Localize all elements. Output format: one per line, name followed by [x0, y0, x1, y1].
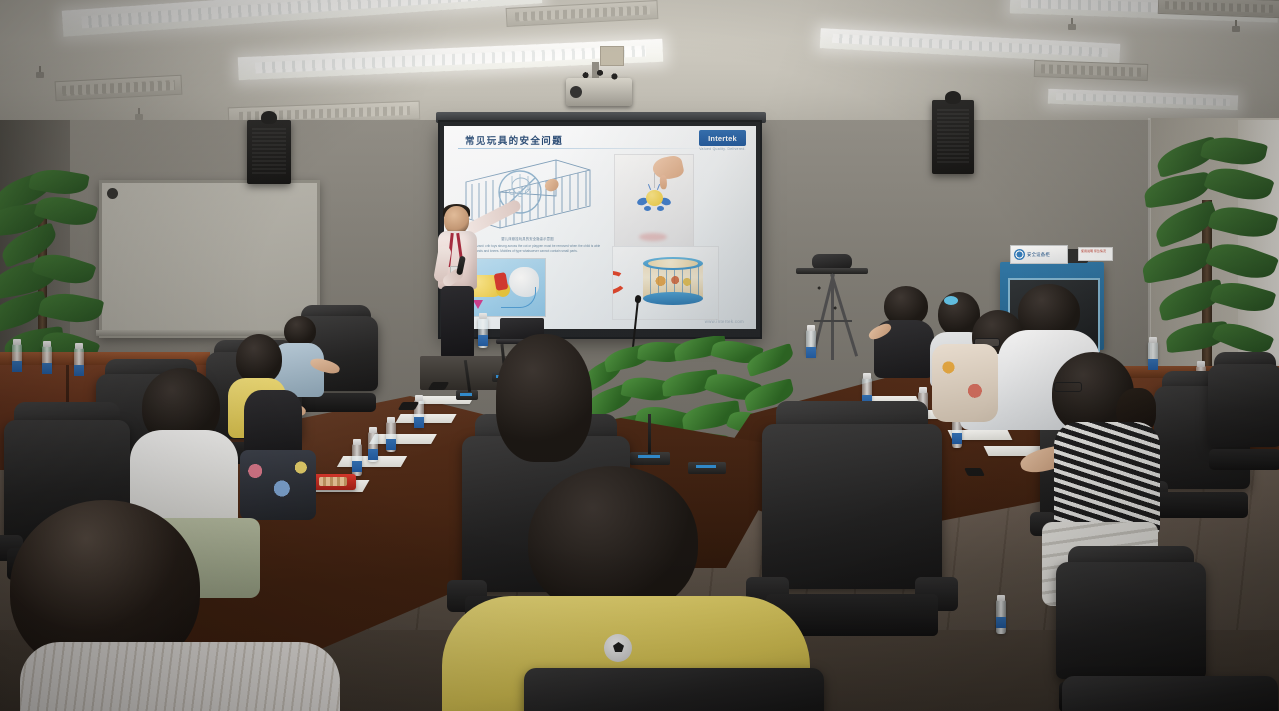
attendee-long-dark-hair: [480, 334, 610, 484]
paper-sheet: [395, 414, 456, 423]
soccer-ball-logo-icon: [604, 634, 632, 662]
toy-drum-icon: [643, 257, 703, 305]
office-chair[interactable]: [1208, 364, 1279, 470]
whiteboard: [99, 180, 320, 338]
eyeglasses-icon: [1054, 382, 1082, 392]
water-bottle: [42, 346, 52, 368]
water-bottle: [806, 330, 816, 356]
drum-pull-cord: [612, 268, 628, 298]
hair-tie-icon: [944, 296, 958, 305]
cabinet-warning-label: 使用说明 紧急情况: [1078, 247, 1113, 261]
safety-badge-icon: [1014, 249, 1025, 260]
presenter-trousers: [441, 286, 474, 358]
speaker-dome-icon: [261, 111, 277, 124]
cabinet-sign-text: 安全设备柜: [1027, 252, 1050, 257]
presenter-head: [444, 206, 469, 234]
intertek-logo: Intertek: [699, 130, 746, 146]
office-chair[interactable]: [1062, 676, 1278, 711]
mobile-phone: [964, 468, 985, 476]
intertek-logo-text: Intertek: [708, 134, 737, 143]
speaker-dome-icon: [945, 91, 961, 104]
water-bottle: [368, 432, 378, 462]
hand-icon: [651, 154, 685, 182]
wall-speaker-left: [247, 120, 291, 184]
bee-toy-icon: [642, 187, 666, 211]
paper-sheet: [369, 434, 437, 444]
microphone-base: [456, 390, 478, 400]
water-bottle: [352, 444, 362, 476]
controller-cord: [501, 287, 536, 308]
toy-drum-photo: [612, 246, 719, 320]
water-bottle: [74, 348, 84, 368]
slide-title: 常见玩具的安全问题: [465, 133, 563, 147]
attendee-patterned-top: [932, 344, 1002, 424]
potted-plant-right: [1140, 130, 1279, 380]
wall-speaker-right: [932, 100, 974, 174]
desk-microphone: [648, 414, 651, 454]
attendee-foreground-striped-shirt: [0, 500, 350, 711]
water-bottle: [12, 344, 22, 366]
slide-title-rule: [458, 148, 708, 149]
bee-toy-photo: [614, 154, 694, 256]
intertek-tagline: Valued Quality. Delivered.: [699, 147, 746, 151]
water-bottle: [996, 600, 1006, 634]
slide-url: www.intertek.com: [705, 319, 744, 324]
cabinet-sign: 安全设备柜: [1010, 245, 1068, 264]
water-bottle: [386, 422, 396, 452]
conference-room-photo: 常见玩具的安全问题 Intertek Valued Quality. Deliv…: [0, 0, 1279, 711]
office-chair[interactable]: [524, 668, 824, 711]
